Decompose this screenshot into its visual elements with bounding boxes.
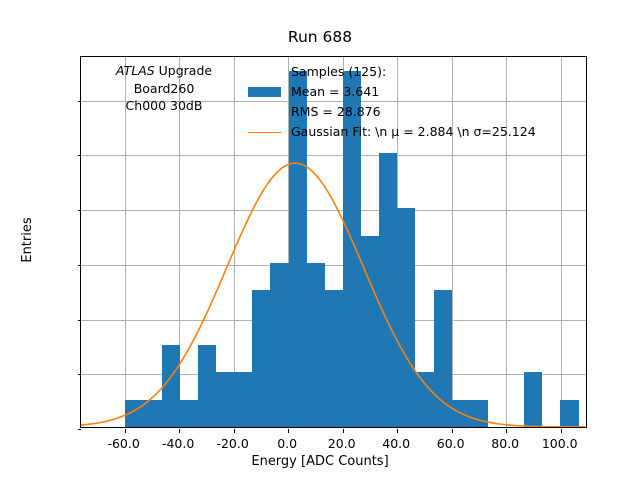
x-tick-label: 60.0 xyxy=(437,436,465,451)
x-tick-mark xyxy=(397,429,398,433)
chart-title: Run 688 xyxy=(0,28,640,46)
y-tick-mark xyxy=(78,320,82,321)
legend-key-empty xyxy=(246,102,283,122)
x-tick-label: 100.0 xyxy=(542,436,578,451)
legend-label: Gaussian Fit: \n μ = 2.884 \n σ=25.124 xyxy=(291,122,536,142)
atlas-line-3: Ch000 30dB xyxy=(104,97,224,115)
x-tick-mark xyxy=(234,429,235,433)
legend-swatch-line xyxy=(248,132,281,134)
legend-label: RMS = 28.876 xyxy=(291,102,381,122)
legend-label: Mean = 3.641 xyxy=(291,82,379,102)
atlas-annotation: ATLAS Upgrade Board260 Ch000 30dB xyxy=(104,62,224,115)
x-tick-mark xyxy=(506,429,507,433)
x-tick-label: 40.0 xyxy=(382,436,410,451)
legend-entry: Samples (125): xyxy=(246,62,536,82)
y-tick-mark xyxy=(78,155,82,156)
legend-key-patch xyxy=(246,82,283,102)
atlas-line-1: ATLAS Upgrade xyxy=(104,62,224,80)
x-tick-label: -60.0 xyxy=(107,436,139,451)
y-tick-mark xyxy=(78,101,82,102)
legend-entry: Gaussian Fit: \n μ = 2.884 \n σ=25.124 xyxy=(246,122,536,142)
atlas-label: ATLAS xyxy=(116,63,155,78)
y-axis-label: Entries xyxy=(20,0,34,480)
legend-key-empty xyxy=(246,62,283,82)
fit-path xyxy=(81,163,585,427)
x-tick-label: -40.0 xyxy=(162,436,194,451)
atlas-upgrade-text: Upgrade xyxy=(155,63,212,78)
atlas-line-2: Board260 xyxy=(104,80,224,98)
x-tick-mark xyxy=(125,429,126,433)
legend: Samples (125):Mean = 3.641RMS = 28.876Ga… xyxy=(246,62,536,142)
legend-swatch-bar xyxy=(248,87,281,97)
legend-key-line xyxy=(246,122,283,142)
y-tick-mark xyxy=(78,374,82,375)
x-tick-label: 80.0 xyxy=(491,436,519,451)
legend-entry: RMS = 28.876 xyxy=(246,102,536,122)
x-tick-label: -20.0 xyxy=(216,436,248,451)
legend-entry: Mean = 3.641 xyxy=(246,82,536,102)
x-tick-mark xyxy=(288,429,289,433)
y-tick-mark xyxy=(78,265,82,266)
x-tick-label: 0.0 xyxy=(277,436,297,451)
x-tick-mark xyxy=(561,429,562,433)
figure: Run 688 -60.0-40.0-20.00.020.040.060.080… xyxy=(0,0,640,480)
x-axis-label: Energy [ADC Counts] xyxy=(0,454,640,469)
x-tick-label: 20.0 xyxy=(328,436,356,451)
x-tick-mark xyxy=(452,429,453,433)
y-tick-mark xyxy=(78,210,82,211)
x-tick-mark xyxy=(343,429,344,433)
legend-label: Samples (125): xyxy=(291,62,386,82)
y-tick-mark xyxy=(78,429,82,430)
x-tick-mark xyxy=(179,429,180,433)
